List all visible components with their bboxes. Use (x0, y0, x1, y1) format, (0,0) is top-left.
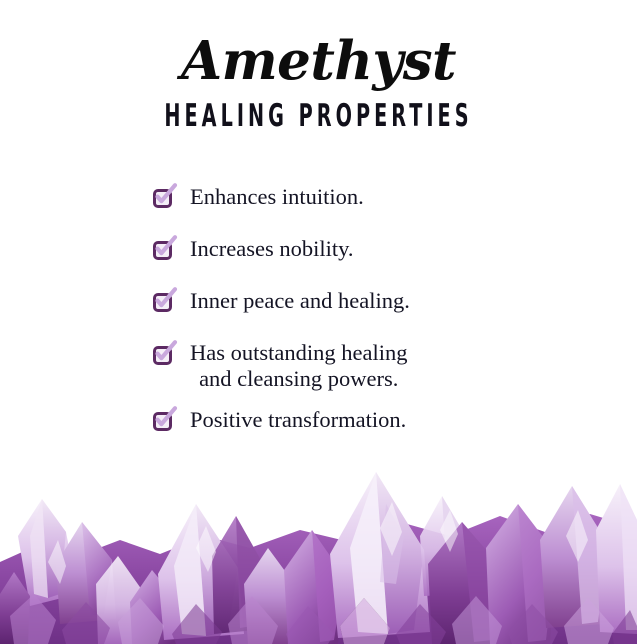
list-item-label: Inner peace and healing. (190, 287, 410, 314)
list-item: Has outstanding healing and cleansing po… (152, 340, 497, 392)
benefits-list: Enhances intuition. Increases nobility. (0, 183, 637, 433)
checked-checkbox-icon (152, 239, 175, 262)
list-item-label: Has outstanding healing and cleansing po… (190, 340, 407, 392)
list-item: Enhances intuition. (152, 183, 497, 210)
checked-checkbox-icon (152, 187, 175, 210)
checked-checkbox-icon (152, 410, 175, 433)
poster-header: Amethyst HEALING PROPERTIES (0, 32, 637, 134)
list-item: Increases nobility. (152, 235, 497, 262)
page-title: Amethyst (0, 32, 637, 90)
list-item-label: Positive transformation. (190, 406, 406, 433)
list-item-label: Enhances intuition. (190, 183, 364, 210)
list-item: Inner peace and healing. (152, 287, 497, 314)
checked-checkbox-icon (152, 344, 175, 367)
page-subtitle: HEALING PROPERTIES (121, 98, 516, 134)
list-item-label: Increases nobility. (190, 235, 354, 262)
amethyst-crystal-cluster-photo (0, 444, 637, 644)
list-item: Positive transformation. (152, 406, 497, 433)
amethyst-healing-properties-poster: Amethyst HEALING PROPERTIES Enhances int… (0, 0, 637, 644)
checked-checkbox-icon (152, 291, 175, 314)
